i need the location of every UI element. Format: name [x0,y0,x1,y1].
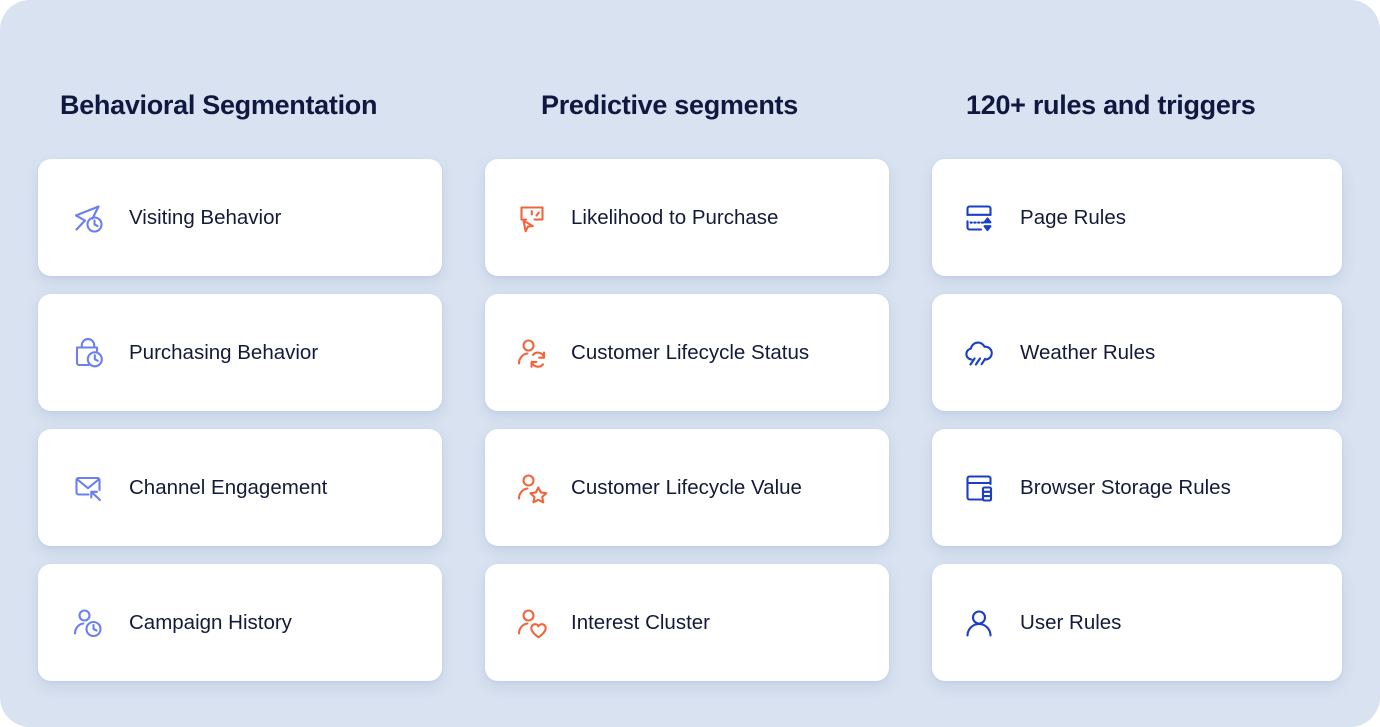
card-list-3: Page Rules Weather Rules [932,159,1342,681]
column-predictive-segments: Predictive segments Likelihood to Purcha… [485,88,889,681]
card-label: Channel Engagement [129,475,327,501]
card-label: Customer Lifecycle Status [571,340,809,366]
shopping-bag-clock-icon [69,334,107,372]
card-label: Browser Storage Rules [1020,475,1231,501]
card-label: Likelihood to Purchase [571,205,778,231]
card-weather-rules[interactable]: Weather Rules [932,294,1342,411]
card-browser-storage-rules[interactable]: Browser Storage Rules [932,429,1342,546]
card-page-rules[interactable]: Page Rules [932,159,1342,276]
column-behavioral-segmentation: Behavioral Segmentation Visiting Behavio… [38,88,442,681]
column-heading-2: Predictive segments [541,88,889,122]
card-label: Customer Lifecycle Value [571,475,802,501]
browser-storage-icon [960,469,998,507]
card-visiting-behavior[interactable]: Visiting Behavior [38,159,442,276]
card-customer-lifecycle-status[interactable]: Customer Lifecycle Status [485,294,889,411]
card-label: Weather Rules [1020,340,1155,366]
card-likelihood-to-purchase[interactable]: Likelihood to Purchase [485,159,889,276]
card-label: Page Rules [1020,205,1126,231]
column-heading-3: 120+ rules and triggers [966,88,1342,122]
card-label: Visiting Behavior [129,205,281,231]
person-heart-icon [513,604,551,642]
card-interest-cluster[interactable]: Interest Cluster [485,564,889,681]
page-scroll-icon [960,199,998,237]
rain-cloud-icon [960,334,998,372]
user-icon [960,604,998,642]
person-clock-icon [69,604,107,642]
envelope-arrow-icon [69,469,107,507]
cursor-clock-icon [69,199,107,237]
card-label: Interest Cluster [571,610,710,636]
card-label: User Rules [1020,610,1121,636]
card-channel-engagement[interactable]: Channel Engagement [38,429,442,546]
person-star-icon [513,469,551,507]
card-list-2: Likelihood to Purchase Customer L [485,159,889,681]
column-heading-1: Behavioral Segmentation [60,88,442,122]
feature-columns: Behavioral Segmentation Visiting Behavio… [38,88,1342,681]
card-list-1: Visiting Behavior Purchasing Behavior [38,159,442,681]
card-label: Campaign History [129,610,292,636]
card-label: Purchasing Behavior [129,340,318,366]
feature-panel: Behavioral Segmentation Visiting Behavio… [0,0,1380,727]
card-user-rules[interactable]: User Rules [932,564,1342,681]
card-campaign-history[interactable]: Campaign History [38,564,442,681]
card-customer-lifecycle-value[interactable]: Customer Lifecycle Value [485,429,889,546]
person-refresh-icon [513,334,551,372]
card-purchasing-behavior[interactable]: Purchasing Behavior [38,294,442,411]
click-box-cursor-icon [513,199,551,237]
column-rules-and-triggers: 120+ rules and triggers Page Rules [932,88,1342,681]
